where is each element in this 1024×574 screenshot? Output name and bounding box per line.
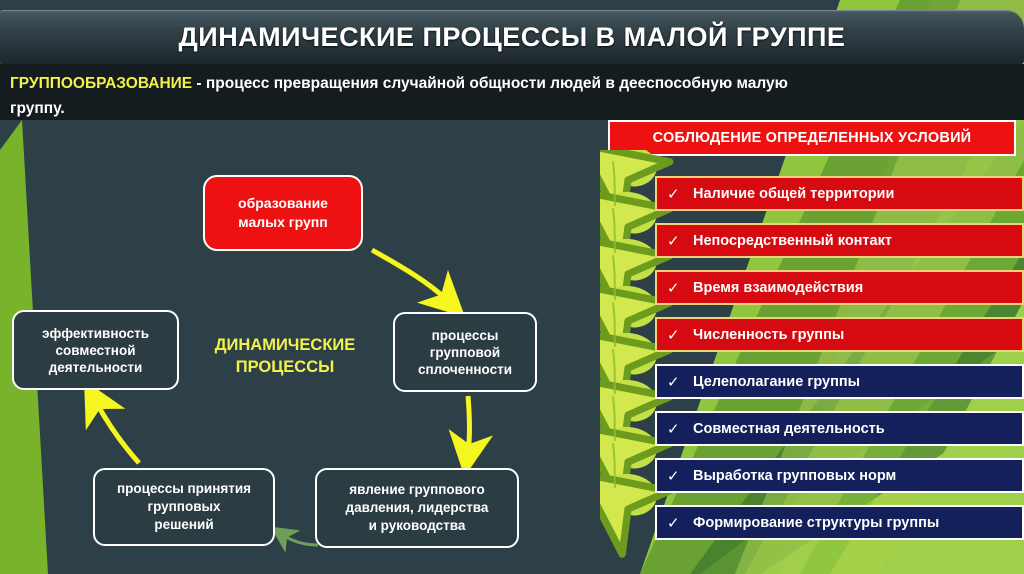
check-icon: ✓ [667,373,685,391]
node-text: процессы принятия групповых решений [117,480,251,534]
node-formation-of-small-groups[interactable]: образование малых групп [203,175,363,251]
slide: ДИНАМИЧЕСКИЕ ПРОЦЕССЫ В МАЛОЙ ГРУППЕ ГРУ… [0,0,1024,574]
arrow-decisions-to-effectiveness [96,402,139,463]
condition-item-3[interactable]: ✓ Время взаимодействия [655,270,1024,305]
check-icon: ✓ [667,467,685,485]
node-line-3: решений [154,517,213,532]
node-line-2: групповой [430,345,500,360]
condition-label: Численность группы [693,327,844,343]
slide-title-bar: ДИНАМИЧЕСКИЕ ПРОЦЕССЫ В МАЛОЙ ГРУППЕ [0,10,1024,64]
node-line-3: деятельности [49,360,143,375]
center-label-line-2: ПРОЦЕССЫ [236,358,335,376]
check-icon: ✓ [667,326,685,344]
center-label-line-1: ДИНАМИЧЕСКИЕ [215,336,356,354]
subtitle-paragraph: ГРУППООБРАЗОВАНИЕ - процесс превращения … [10,71,1010,121]
page-title: ДИНАМИЧЕСКИЕ ПРОЦЕССЫ В МАЛОЙ ГРУППЕ [179,22,846,53]
condition-item-2[interactable]: ✓ Непосредственный контакт [655,223,1024,258]
condition-label: Выработка групповых норм [693,468,896,484]
check-icon: ✓ [667,514,685,532]
conditions-panel: СОБЛЮДЕНИЕ ОПРЕДЕЛЕННЫХ УСЛОВИЙ [600,120,1024,574]
subtitle-band: ГРУППООБРАЗОВАНИЕ - процесс превращения … [0,64,1024,120]
node-text: эффективность совместной деятельности [42,325,149,376]
node-text: процессы групповой сплоченности [418,327,512,378]
node-line-2: совместной [55,343,135,358]
node-group-pressure-leadership[interactable]: явление группового давления, лидерства и… [315,468,519,548]
condition-item-6[interactable]: ✓ Совместная деятельность [655,411,1024,446]
condition-item-5[interactable]: ✓ Целеполагание группы [655,364,1024,399]
check-icon: ✓ [667,279,685,297]
condition-label: Время взаимодействия [693,280,863,296]
node-line-1: процессы принятия [117,481,251,496]
condition-item-7[interactable]: ✓ Выработка групповых норм [655,458,1024,493]
arrow-cohesion-to-pressure [468,396,470,452]
conditions-header-label: СОБЛЮДЕНИЕ ОПРЕДЕЛЕННЫХ УСЛОВИЙ [653,130,972,146]
arrow-pressure-to-decisions [283,535,318,545]
condition-label: Совместная деятельность [693,421,885,437]
check-icon: ✓ [667,232,685,250]
node-group-decision-processes[interactable]: процессы принятия групповых решений [93,468,275,546]
subtitle-keyword: ГРУППООБРАЗОВАНИЕ [10,75,192,92]
condition-label: Непосредственный контакт [693,233,892,249]
node-line-1: образование [238,195,328,211]
condition-item-4[interactable]: ✓ Численность группы [655,317,1024,352]
node-line-3: и руководства [369,518,466,533]
node-line-1: эффективность [42,326,149,341]
condition-item-8[interactable]: ✓ Формирование структуры группы [655,505,1024,540]
node-text: явление группового давления, лидерства и… [346,481,489,535]
node-line-1: явление группового [349,482,484,497]
node-line-1: процессы [432,328,499,343]
check-icon: ✓ [667,420,685,438]
node-line-3: сплоченности [418,362,512,377]
node-group-cohesion-processes[interactable]: процессы групповой сплоченности [393,312,537,392]
condition-label: Целеполагание группы [693,374,860,390]
subtitle-line2: группу. [10,96,1010,121]
node-line-2: групповых [147,499,220,514]
node-line-2: давления, лидерства [346,500,489,515]
condition-item-1[interactable]: ✓ Наличие общей территории [655,176,1024,211]
subtitle-rest: - процесс превращения случайной общности… [192,75,788,92]
arrow-root-to-cohesion [372,250,447,300]
node-text: образование малых групп [238,194,328,232]
node-effectiveness-of-joint-activity[interactable]: эффективность совместной деятельности [12,310,179,390]
conditions-list: ✓ Наличие общей территории ✓ Непосредств… [655,176,1024,552]
node-line-2: малых групп [238,214,327,230]
diagram-center-label: ДИНАМИЧЕСКИЕ ПРОЦЕССЫ [196,334,374,378]
condition-label: Наличие общей территории [693,186,894,202]
check-icon: ✓ [667,185,685,203]
condition-label: Формирование структуры группы [693,515,939,531]
